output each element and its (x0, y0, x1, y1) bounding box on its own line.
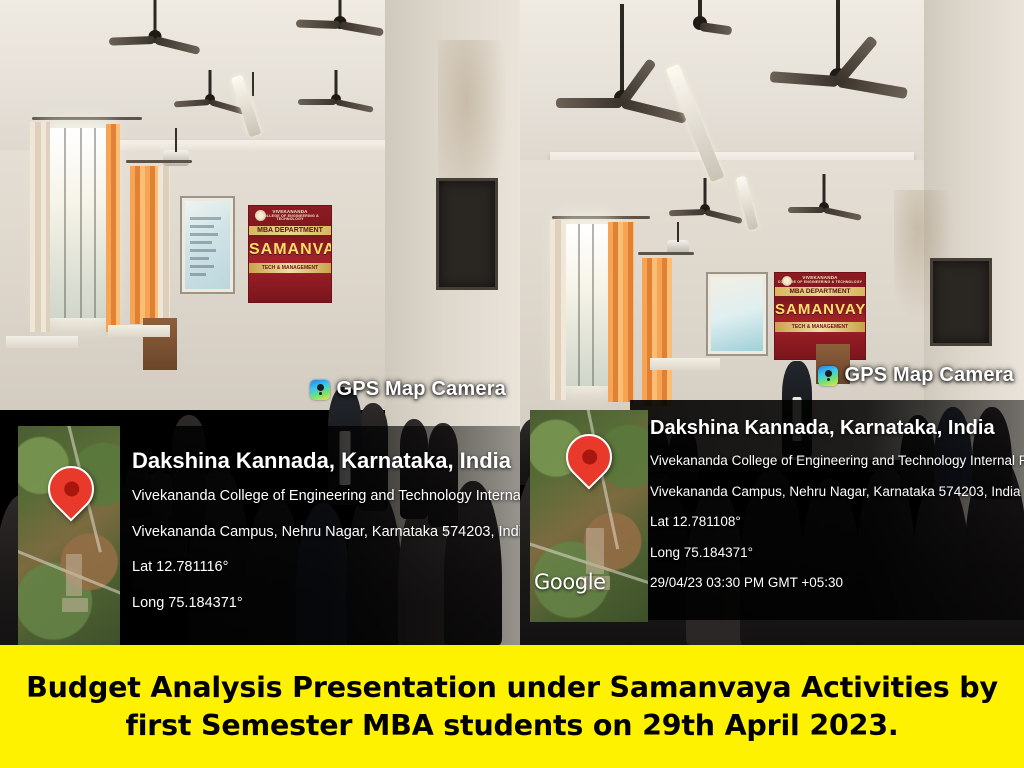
banner-department: MBA DEPARTMENT (249, 226, 331, 235)
left-photo: VIVEKANANDA COLLEGE OF ENGINEERING & TEC… (0, 0, 520, 645)
map-pin-icon (556, 424, 621, 489)
curtain (158, 166, 170, 318)
window-bars (48, 128, 106, 318)
banner-title: SAMANVAYA (775, 296, 865, 322)
ceiling-fan (110, 0, 200, 46)
projector-mount (175, 128, 177, 152)
projector-screen (180, 196, 235, 294)
map-building (586, 528, 604, 574)
gps-latitude: Lat 12.781108° (650, 515, 1024, 529)
gps-place: Dakshina Kannada, Karnataka, India (132, 448, 520, 473)
projector-screen (706, 272, 768, 356)
caption-bar: Budget Analysis Presentation under Saman… (0, 645, 1024, 768)
gps-map-camera-icon (310, 380, 330, 400)
tubelight-hanger (252, 72, 254, 96)
gps-map-camera-icon (818, 366, 838, 386)
projector-screen-slide (711, 277, 763, 351)
gps-info-panel: Dakshina Kannada, Karnataka, India Vivek… (92, 426, 520, 645)
curtain (106, 124, 120, 332)
event-banner: VIVEKANANDA COLLEGE OF ENGINEERING & TEC… (248, 205, 332, 303)
gps-address-line-1: Vivekananda College of Engineering and T… (132, 489, 520, 504)
fan-blade (837, 76, 908, 99)
gps-address-line-2: Vivekananda Campus, Nehru Nagar, Karnata… (650, 485, 1024, 499)
map-pin-icon (38, 456, 103, 521)
fan-blade (704, 209, 742, 224)
map-building (66, 554, 82, 596)
gps-map-thumbnail[interactable]: Google (530, 410, 648, 622)
wall-picture-frame (436, 178, 498, 290)
projector-screen-slide (185, 201, 230, 289)
gps-place: Dakshina Kannada, Karnataka, India (650, 417, 1024, 440)
projector (163, 150, 189, 166)
curtain-rod (552, 216, 650, 219)
fan-blade (335, 99, 373, 113)
college-logo (255, 210, 266, 221)
map-building (62, 598, 88, 612)
gps-app-header: GPS Map Camera (310, 378, 506, 401)
curtain (130, 166, 158, 324)
gps-address-line-2: Vivekananda Campus, Nehru Nagar, Karnata… (132, 525, 520, 540)
curtain (30, 122, 50, 332)
gps-longitude: Long 75.184371° (132, 596, 520, 611)
gps-app-title: GPS Map Camera (844, 364, 1014, 387)
google-watermark: Google (534, 570, 606, 594)
fan-blade (339, 21, 384, 37)
ceiling-fan (562, 4, 682, 124)
slide-content (190, 217, 224, 281)
banner-department: MBA DEPARTMENT (775, 287, 865, 296)
projector-mount (677, 222, 679, 242)
ceiling-fan (670, 178, 740, 230)
fan-blade (174, 99, 210, 107)
fan-blade (109, 36, 155, 46)
gps-app-header: GPS Map Camera (818, 364, 1014, 387)
ceiling-fan (300, 70, 372, 114)
curtain-rod (32, 117, 142, 120)
ceiling-fan (768, 0, 908, 96)
banner-subtitle: TECH & MANAGEMENT (775, 322, 865, 332)
college-logo (782, 276, 792, 286)
fan-blade (298, 99, 336, 105)
poster-root: VIVEKANANDA COLLEGE OF ENGINEERING & TEC… (0, 0, 1024, 768)
window (48, 128, 106, 318)
wall-picture-frame (930, 258, 992, 346)
gps-address-line-1: Vivekananda College of Engineering and T… (650, 454, 1024, 468)
curtain-rod (126, 160, 192, 163)
gps-map-thumbnail[interactable] (18, 426, 120, 645)
banner-title: SAMANVAYA (249, 235, 331, 263)
ceiling-fan (295, 0, 385, 40)
caption-text: Budget Analysis Presentation under Saman… (14, 669, 1010, 743)
gps-app-title: GPS Map Camera (336, 378, 506, 401)
fan-blade (834, 35, 878, 85)
banner-subtitle: TECH & MANAGEMENT (249, 263, 331, 273)
fan-blade (823, 207, 861, 221)
table (6, 336, 78, 348)
ceiling-fan (680, 0, 720, 50)
fan-blade (621, 98, 687, 124)
right-photo: VIVEKANANDA COLLEGE OF ENGINEERING & TEC… (520, 0, 1024, 645)
gps-timestamp: 29/04/23 03:30 PM GMT +05:30 (650, 576, 1024, 590)
gps-longitude: Long 75.184371° (650, 546, 1024, 560)
curtain-rod (638, 252, 694, 255)
fan-blade (669, 209, 705, 216)
photo-strip: VIVEKANANDA COLLEGE OF ENGINEERING & TEC… (0, 0, 1024, 645)
gps-latitude: Lat 12.781116° (132, 560, 520, 575)
fan-blade (788, 207, 824, 213)
table (108, 325, 170, 337)
gps-info-panel: Dakshina Kannada, Karnataka, India Vivek… (630, 400, 1024, 620)
fan-blade (556, 98, 622, 108)
ceiling-fan (788, 174, 860, 226)
fan-blade (296, 19, 340, 29)
fan-blade (770, 71, 839, 87)
